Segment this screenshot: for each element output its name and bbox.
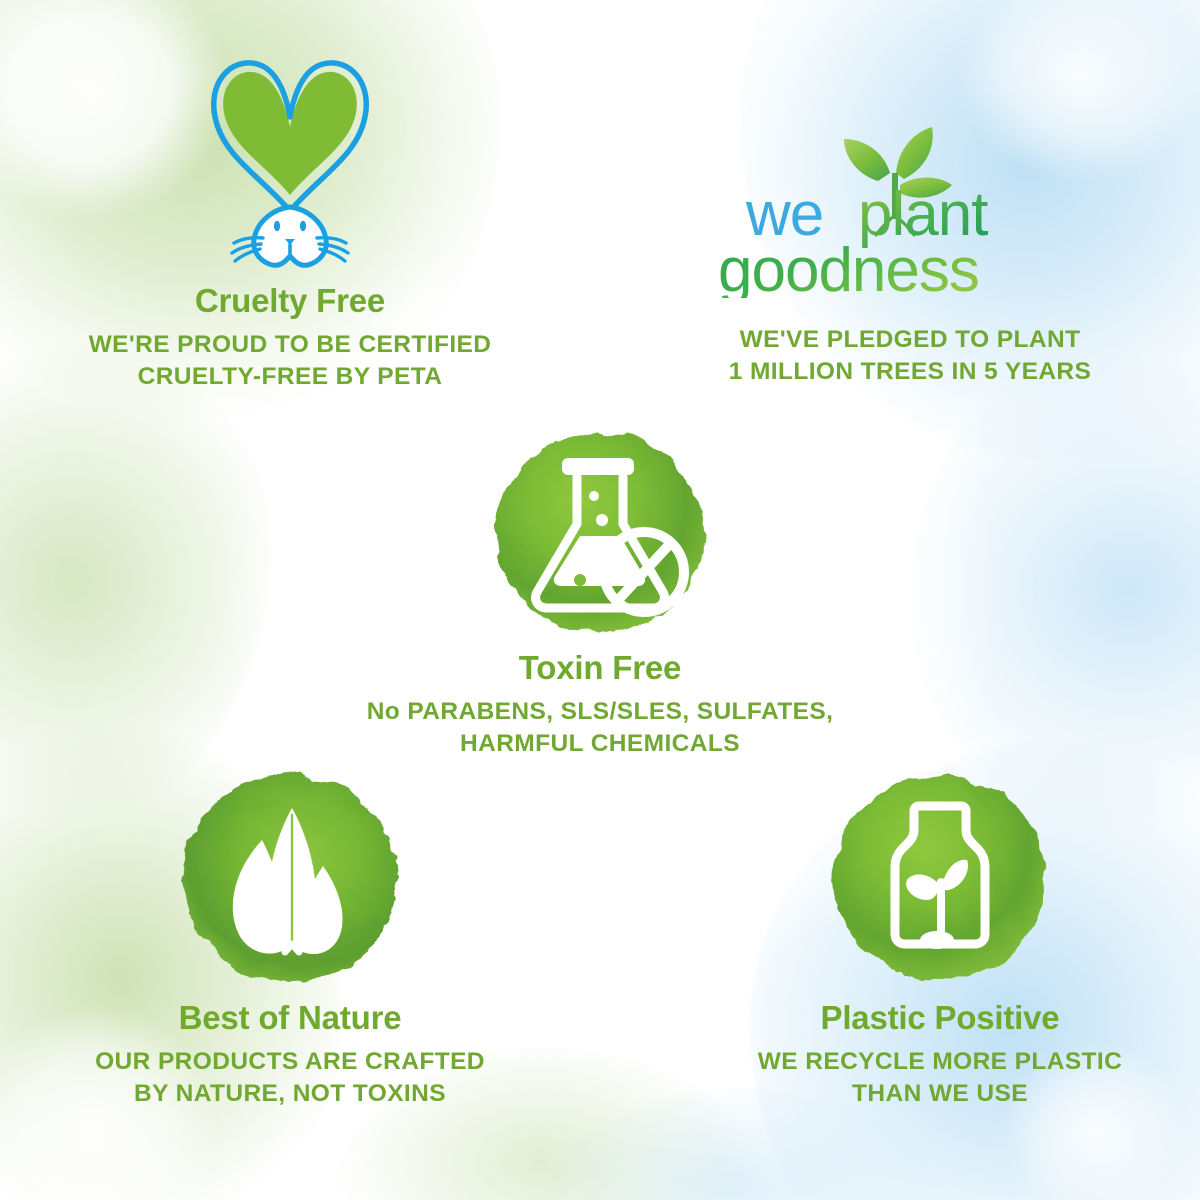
we-plant-goodness-logo-wrap: we plant goodness [630, 120, 1190, 300]
badge-cruelty-free: Cruelty Free WE'RE PROUD TO BE CERTIFIED… [0, 40, 580, 393]
infographic-page: Cruelty Free WE'RE PROUD TO BE CERTIFIED… [0, 0, 1200, 1200]
flask-bubble-4 [574, 574, 586, 586]
three-leaves-icon [165, 760, 415, 1000]
bunny-heart-icon [185, 43, 395, 273]
badge-desc-cruelty-free: WE'RE PROUD TO BE CERTIFIED CRUELTY-FREE… [0, 329, 580, 393]
badge-desc-best-of-nature: OUR PRODUCTS ARE CRAFTED BY NATURE, NOT … [20, 1046, 560, 1110]
badge-title-toxin-free: Toxin Free [310, 650, 890, 686]
bottle-sprout-icon-wrap [660, 760, 1200, 1000]
flask-bubble-3 [595, 539, 605, 549]
flask-bubble-2 [596, 514, 608, 526]
badge-desc-plant-goodness: WE'VE PLEDGED TO PLANT 1 MILLION TREES I… [630, 324, 1190, 388]
badge-plant-goodness: we plant goodness WE'VE PLEDGED TO PLANT… [630, 120, 1190, 388]
bunny-heart-icon-wrap [0, 40, 580, 275]
flask-prohibited-icon [480, 420, 720, 650]
we-plant-goodness-logo: we plant goodness [710, 123, 1110, 298]
flask-prohibited-icon-wrap [310, 420, 890, 650]
flask-bubble-1 [589, 491, 599, 501]
bunny-eye-left [274, 220, 280, 230]
badge-toxin-free: Toxin Free No PARABENS, SLS/SLES, SULFAT… [310, 420, 890, 760]
badge-desc-plastic-positive: WE RECYCLE MORE PLASTIC THAN WE USE [660, 1046, 1200, 1110]
badge-title-plastic-positive: Plastic Positive [660, 1000, 1200, 1036]
bunny-eye-right [300, 220, 306, 230]
badge-title-cruelty-free: Cruelty Free [0, 283, 580, 319]
badge-title-best-of-nature: Best of Nature [20, 1000, 560, 1036]
logo-word-goodness: goodness [718, 236, 979, 298]
sprout-soil [920, 931, 954, 949]
bottle-sprout-icon [815, 760, 1065, 1000]
badge-desc-toxin-free: No PARABENS, SLS/SLES, SULFATES, HARMFUL… [310, 696, 890, 760]
three-leaves-icon-wrap [20, 760, 560, 1000]
badge-best-of-nature: Best of Nature OUR PRODUCTS ARE CRAFTED … [20, 760, 560, 1110]
badge-plastic-positive: Plastic Positive WE RECYCLE MORE PLASTIC… [660, 760, 1200, 1110]
